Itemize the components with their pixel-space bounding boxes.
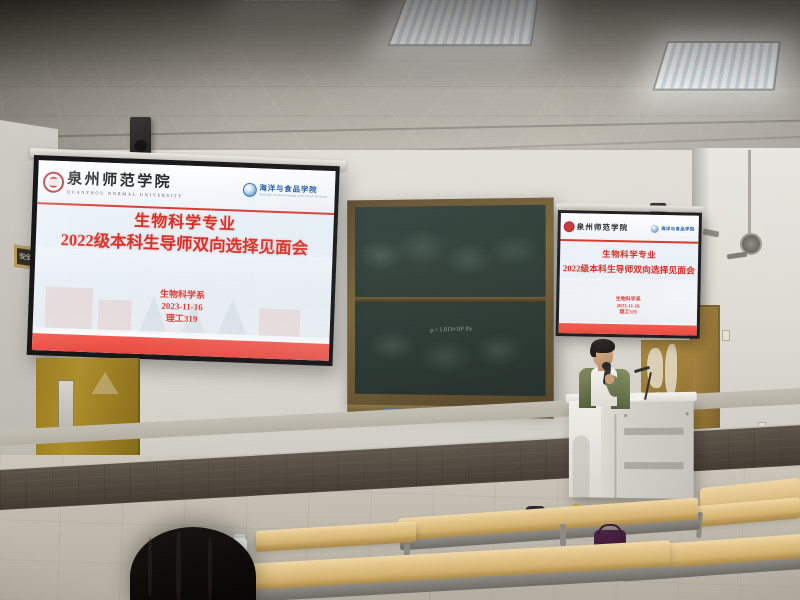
wall-speaker-1: [130, 117, 151, 157]
backpack-strap: [598, 524, 622, 535]
podium-screw-1: [624, 414, 627, 417]
podium: [569, 399, 694, 499]
blackboard-surface: p = 1.013×10⁵ Pa: [355, 205, 546, 396]
tv-university-seal-icon: [564, 221, 575, 232]
university-name-cn: 泉州师范学院: [67, 172, 184, 191]
hair-strand-2: [176, 531, 181, 600]
tv-university-name-cn: 泉州师范学院: [577, 222, 629, 234]
university-name-block: 泉州师范学院 QUANZHOU NORMAL UNIVERSITY: [67, 172, 184, 198]
tv-footer-band: [559, 323, 697, 335]
desk-leg-3: [560, 524, 566, 546]
microphone-capsule: [602, 362, 611, 370]
ceiling: [0, 0, 800, 165]
seal-core: [47, 179, 59, 186]
ceiling-shading: [0, 0, 800, 165]
tv-meta-block: 生物科学系 2023-11-16 理工319: [559, 296, 697, 319]
podium-seam: [614, 414, 615, 498]
presenter: [577, 339, 633, 405]
door-scuff: [88, 372, 122, 394]
tv-slide: 泉州师范学院 海洋与食品学院 生物科学专业 2022级本科生导师双向选择见面会 …: [559, 213, 699, 336]
tv-title-line1: 生物科学专业: [560, 247, 698, 262]
power-outlet-1: [722, 330, 730, 341]
university-logo: 泉州师范学院 QUANZHOU NORMAL UNIVERSITY: [43, 171, 184, 198]
tv-college-name-cn: 海洋与食品学院: [661, 226, 695, 233]
secondary-display[interactable]: 泉州师范学院 海洋与食品学院 生物科学专业 2022级本科生导师双向选择见面会 …: [556, 210, 702, 339]
podium-vent-1: [624, 428, 683, 435]
blackboard-divider: [355, 297, 546, 302]
globe-icon: [243, 183, 258, 198]
blackboard-chalk-text: p = 1.013×10⁵ Pa: [430, 326, 472, 333]
tv-college-logo: 海洋与食品学院: [651, 225, 695, 234]
tv-title-block: 生物科学专业 2022级本科生导师双向选择见面会: [560, 247, 698, 277]
lecture-hall-photo: 安全出口 p = 1.013×10⁵ Pa: [0, 0, 800, 600]
tv-university-logo: 泉州师范学院: [564, 221, 629, 233]
tv-slide-header: 泉州师范学院 海洋与食品学院: [560, 213, 699, 243]
university-seal-icon: [43, 172, 65, 194]
paint-peel-2: [665, 344, 677, 396]
tv-bezel: 泉州师范学院 海洋与食品学院 生物科学专业 2022级本科生导师双向选择见面会 …: [556, 210, 702, 339]
podium-screw-2: [686, 412, 689, 415]
slide-header: 泉州师范学院 QUANZHOU NORMAL UNIVERSITY 海洋与食品学…: [37, 160, 335, 215]
projection-screen[interactable]: 泉州师范学院 QUANZHOU NORMAL UNIVERSITY 海洋与食品学…: [27, 155, 340, 366]
wall-conduit: [748, 150, 751, 238]
tv-globe-icon: [651, 225, 659, 233]
hair-strand-3: [208, 537, 212, 600]
podium-vent-2: [624, 462, 683, 469]
tv-title-line2: 2022级本科生导师双向选择见面会: [560, 261, 698, 277]
presenter-hair-side: [590, 345, 596, 357]
screen-frame: 泉州师范学院 QUANZHOU NORMAL UNIVERSITY 海洋与食品学…: [27, 155, 340, 366]
slide: 泉州师范学院 QUANZHOU NORMAL UNIVERSITY 海洋与食品学…: [32, 160, 336, 361]
college-logo: 海洋与食品学院 College of Oceanology and Food S…: [243, 183, 328, 200]
college-name-block: 海洋与食品学院 College of Oceanology and Food S…: [259, 184, 328, 199]
hair-strand-1: [148, 537, 152, 597]
blackboard: p = 1.013×10⁵ Pa: [347, 198, 553, 409]
podium-side-face: [569, 400, 601, 497]
